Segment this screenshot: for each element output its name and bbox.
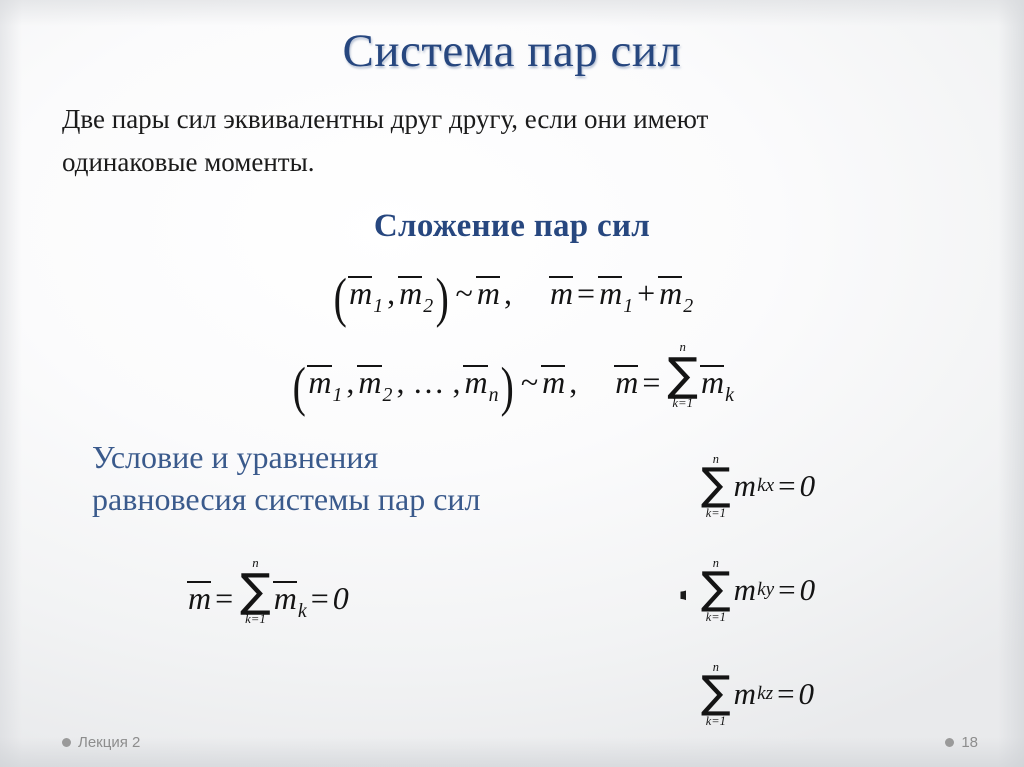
comma-3: , (448, 364, 464, 400)
zero-value: 0 (799, 676, 815, 712)
heading-line-1: Условие и уравнения (92, 436, 652, 478)
open-paren: ( (333, 266, 346, 329)
mk-subscript: k (297, 600, 307, 622)
equals-sign: = (774, 572, 799, 608)
m1-bar: m (308, 364, 331, 401)
rhs-m2-bar: m (659, 275, 682, 312)
m-symbol: m (734, 468, 756, 504)
m-left-bar: m (550, 275, 573, 312)
zero-value: 0 (333, 580, 349, 617)
m2-bar: m (358, 364, 381, 401)
summation-operator: n∑k=1 (698, 660, 734, 728)
intro-paragraph: Две пары сил эквивалентны друг другу, ес… (62, 98, 962, 183)
equals-sign-1: = (211, 580, 237, 616)
m-symbol: m (734, 572, 756, 608)
summation-operator: n∑k=1 (698, 452, 734, 520)
tilde-operator: ~ (517, 364, 542, 400)
mk-bar: m (701, 364, 724, 401)
m2-subscript: 2 (422, 295, 433, 317)
left-curly-brace-icon: { (664, 428, 686, 748)
rhs-m1-bar: m (599, 275, 622, 312)
footer-page-number: 18 (945, 734, 978, 751)
lecture-text: Лекция 2 (78, 734, 140, 751)
sigma-icon: ∑ (701, 673, 731, 713)
equation-row-z: n∑k=1mkz=0 (698, 642, 814, 746)
m-subscript: kx (756, 475, 774, 497)
mn-subscript: n (488, 384, 499, 406)
comma-1: , (342, 364, 358, 400)
rhs-m2-subscript: 2 (682, 295, 693, 317)
equation-rows: n∑k=1mkx=0 n∑k=1mky=0 n∑k=1mkz=0 (698, 428, 988, 748)
m-symbol: m (734, 676, 756, 712)
subheading-addition-of-force-couples: Сложение пар сил (0, 208, 1024, 245)
sigma-icon: ∑ (701, 465, 731, 505)
zero-value: 0 (800, 572, 816, 608)
m2-subscript: 2 (382, 384, 393, 406)
presentation-slide: Система пар сил Две пары сил эквивалентн… (0, 0, 1024, 767)
equals-sign: = (573, 275, 599, 311)
m-subscript: ky (756, 579, 774, 601)
equation-row-x: n∑k=1mkx=0 (698, 434, 815, 538)
formula-couple-equivalence: (m1,m2)~m,m=m1+m2 (0, 266, 1024, 329)
formula-equilibrium-vector: m=n∑k=1mk=0 (188, 556, 349, 626)
intro-line-1: Две пары сил эквивалентны друг другу, ес… (62, 104, 708, 134)
summation-operator: n∑k=1 (664, 340, 701, 410)
comma-2: , (500, 275, 516, 311)
intro-line-2: одинаковые моменты. (62, 141, 962, 184)
sigma-icon: ∑ (667, 354, 698, 396)
slide-title: Система пар сил (0, 24, 1024, 78)
formula-couple-sum-n: (m1,m2,…,mn)~m,m=n∑k=1mk (0, 340, 1024, 418)
equals-sign: = (774, 468, 799, 504)
equation-system-equilibrium: { n∑k=1mkx=0 n∑k=1mky=0 n∑k=1mkz=0 (664, 428, 994, 748)
rhs-m1-subscript: 1 (622, 295, 633, 317)
zero-value: 0 (800, 468, 816, 504)
tilde-operator: ~ (452, 275, 477, 311)
mk-bar: m (274, 580, 297, 617)
equals-sign: = (638, 364, 664, 400)
close-paren: ) (501, 355, 514, 418)
comma-4: , (565, 364, 581, 400)
bullet-icon (62, 738, 71, 747)
plus-sign: + (633, 275, 659, 311)
m-result-bar: m (542, 364, 565, 401)
summation-operator: n∑k=1 (237, 556, 274, 626)
comma-1: , (383, 275, 399, 311)
mk-subscript: k (724, 384, 734, 406)
sigma-icon: ∑ (240, 570, 271, 612)
mn-bar: m (464, 364, 487, 401)
m1-subscript: 1 (372, 295, 383, 317)
ellipsis: … (408, 364, 448, 400)
equation-row-y: n∑k=1mky=0 (698, 538, 815, 642)
m1-subscript: 1 (332, 384, 343, 406)
m1-bar: m (349, 275, 372, 312)
bullet-icon (945, 738, 954, 747)
m-result-bar: m (477, 275, 500, 312)
m2-bar: m (399, 275, 422, 312)
comma-2: , (392, 364, 408, 400)
m-left-bar: m (615, 364, 638, 401)
page-number-text: 18 (961, 734, 978, 751)
equals-sign-2: = (307, 580, 333, 616)
heading-line-2: равновесия системы пар сил (92, 478, 652, 520)
open-paren: ( (293, 355, 306, 418)
equals-sign: = (773, 676, 798, 712)
close-paren: ) (436, 266, 449, 329)
m-subscript: kz (756, 683, 773, 705)
summation-operator: n∑k=1 (698, 556, 734, 624)
m-left-bar: m (188, 580, 211, 617)
heading-equilibrium-conditions: Условие и уравнения равновесия системы п… (92, 436, 652, 520)
sigma-icon: ∑ (701, 569, 731, 609)
footer-lecture-label: Лекция 2 (62, 734, 140, 751)
